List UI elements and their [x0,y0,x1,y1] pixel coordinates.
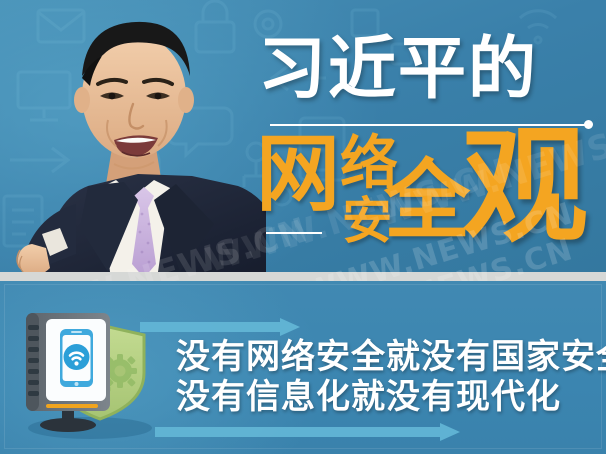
orange-char-guan: 观 [462,124,588,250]
orange-char-quan: 全 [384,158,470,244]
poster-header-section: 习近平的 网 络 安 全 观 WWW.NEWS.CN WWW.NEWS.CN [0,0,606,272]
orange-title-group: 网 络 安 全 观 [256,130,604,260]
xi-jinping-portrait [16,0,266,272]
arrow-right-bottom-icon [155,423,460,441]
slogan-text: 没有网络安全就没有国家安全 没有信息化就没有现代化 [176,337,596,417]
section-divider [0,272,606,281]
poster-slogan-section: 没有网络安全就没有国家安全 没有信息化就没有现代化 [0,281,606,454]
infographic-poster: 习近平的 网 络 安 全 观 WWW.NEWS.CN WWW.NEWS.CN W… [0,0,606,454]
slogan-line-1: 没有网络安全就没有国家安全 [176,337,596,377]
orange-char-wang: 网 [256,132,340,216]
page-title: 习近平的 [258,24,598,116]
slogan-line-2: 没有信息化就没有现代化 [176,377,596,417]
arrow-right-top-icon [140,318,300,336]
